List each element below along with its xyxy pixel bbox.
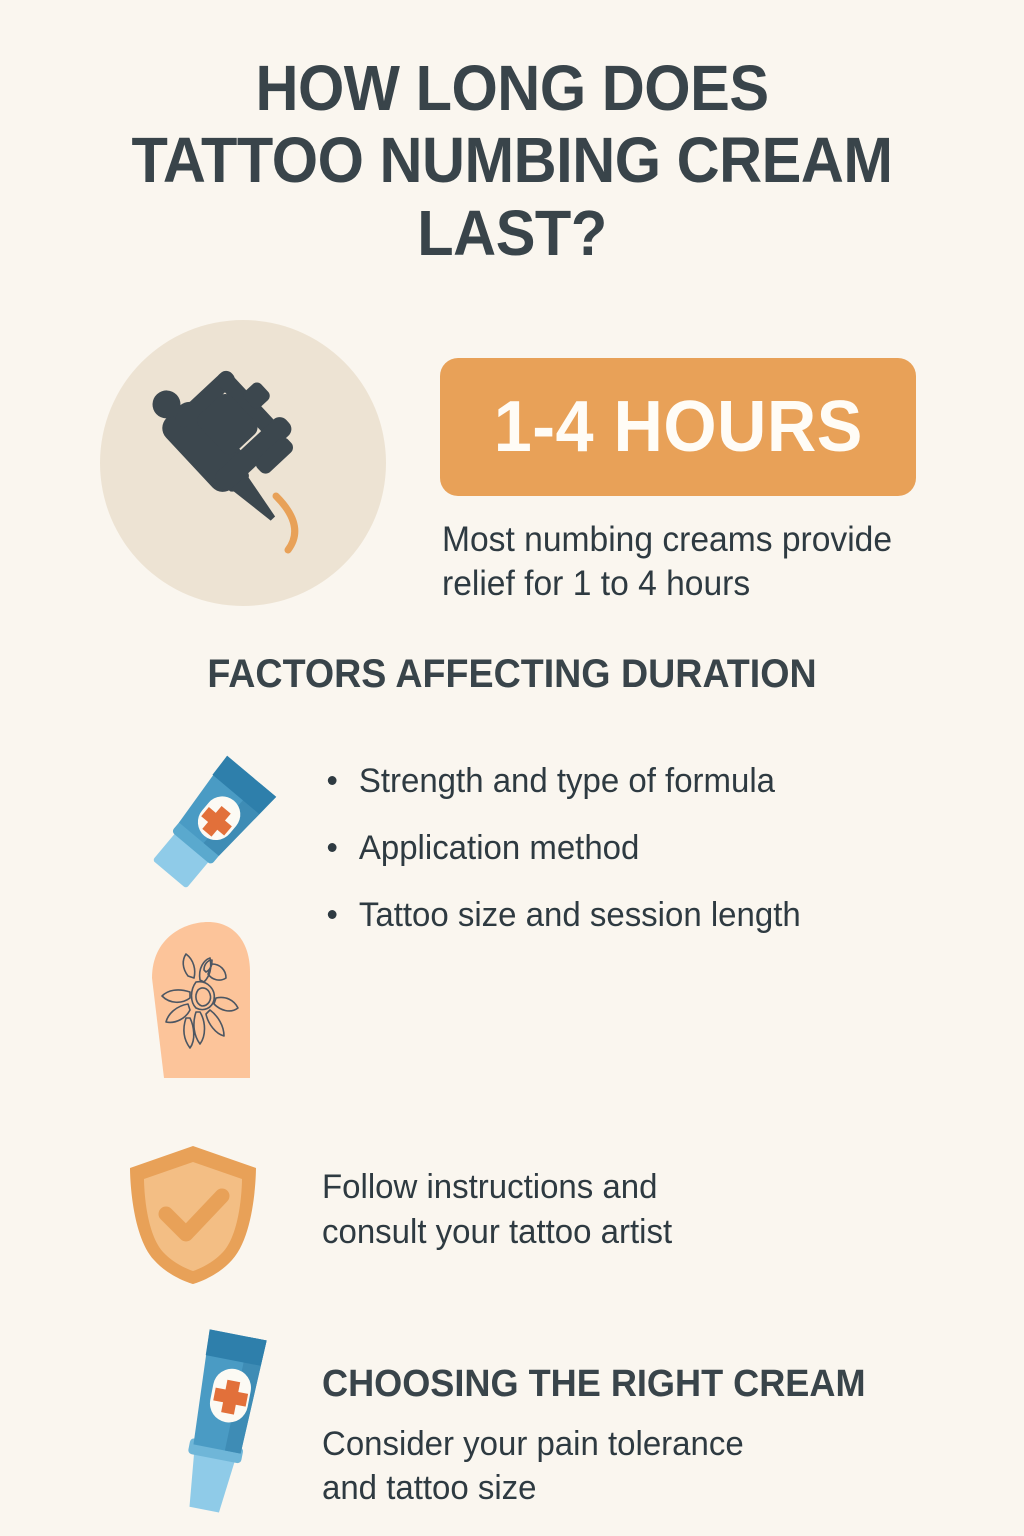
page-title: HOW LONG DOES TATTOO NUMBING CREAM LAST? (36, 52, 988, 269)
hero-caption-line-1: Most numbing creams provide (442, 518, 941, 562)
choosing-line-2: and tattoo size (322, 1466, 865, 1510)
choosing-text: Consider your pain tolerance and tattoo … (322, 1422, 865, 1510)
choosing-line-1: Consider your pain tolerance (322, 1422, 865, 1466)
duration-badge: 1-4 HOURS (440, 358, 916, 496)
page-title-line-2: TATTOO NUMBING CREAM (36, 124, 988, 196)
shield-check-icon (122, 1142, 264, 1287)
duration-badge-label: 1-4 HOURS (493, 391, 862, 463)
advice-line-2: consult your tattoo artist (322, 1210, 865, 1255)
list-item: Tattoo size and session length (322, 898, 943, 932)
choosing-heading: CHOOSING THE RIGHT CREAM (322, 1363, 866, 1406)
tattooed-skin-icon (138, 920, 263, 1082)
advice-line-1: Follow instructions and (322, 1165, 865, 1210)
page-title-line-3: LAST? (36, 197, 988, 269)
page-title-line-1: HOW LONG DOES (36, 52, 988, 124)
cream-tube-icon (133, 743, 298, 898)
infographic-canvas: HOW LONG DOES TATTOO NUMBING CREAM LAST? (0, 0, 1024, 1536)
tattoo-machine-icon (100, 320, 386, 606)
hero-caption-line-2: relief for 1 to 4 hours (442, 562, 941, 606)
list-item: Strength and type of formula (322, 764, 943, 798)
hero-caption: Most numbing creams provide relief for 1… (442, 518, 941, 607)
factors-list: Strength and type of formula Application… (322, 764, 962, 965)
cream-tube-icon (155, 1323, 285, 1513)
factors-heading: FACTORS AFFECTING DURATION (31, 652, 994, 697)
advice-text: Follow instructions and consult your tat… (322, 1165, 865, 1255)
list-item: Application method (322, 831, 943, 865)
